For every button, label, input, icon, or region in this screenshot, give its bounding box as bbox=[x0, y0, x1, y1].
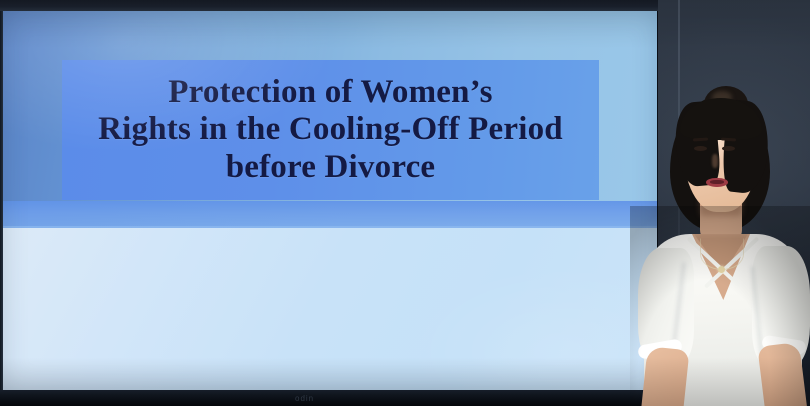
slide-accent-band bbox=[3, 201, 657, 228]
presenter-eye-left bbox=[694, 146, 707, 151]
display-bezel-top bbox=[0, 0, 658, 11]
presentation-display: Protection of Women’s Rights in the Cool… bbox=[0, 0, 658, 406]
presenter-mouth-inner bbox=[710, 180, 724, 184]
slide-title-box: Protection of Women’s Rights in the Cool… bbox=[62, 60, 599, 200]
display-bezel-bottom: odin bbox=[0, 390, 658, 406]
video-frame: Protection of Women’s Rights in the Cool… bbox=[0, 0, 810, 406]
presenter-nose bbox=[712, 154, 718, 168]
presenter-eye-right bbox=[722, 146, 735, 151]
slide-lower-background bbox=[3, 228, 657, 390]
display-brand-label: odin bbox=[295, 394, 314, 403]
slide-canvas: Protection of Women’s Rights in the Cool… bbox=[3, 11, 657, 390]
presenter-necklace-pendant bbox=[718, 266, 725, 273]
slide-title: Protection of Women’s Rights in the Cool… bbox=[92, 74, 569, 187]
presenter bbox=[636, 86, 810, 406]
display-bezel-left bbox=[0, 11, 3, 390]
